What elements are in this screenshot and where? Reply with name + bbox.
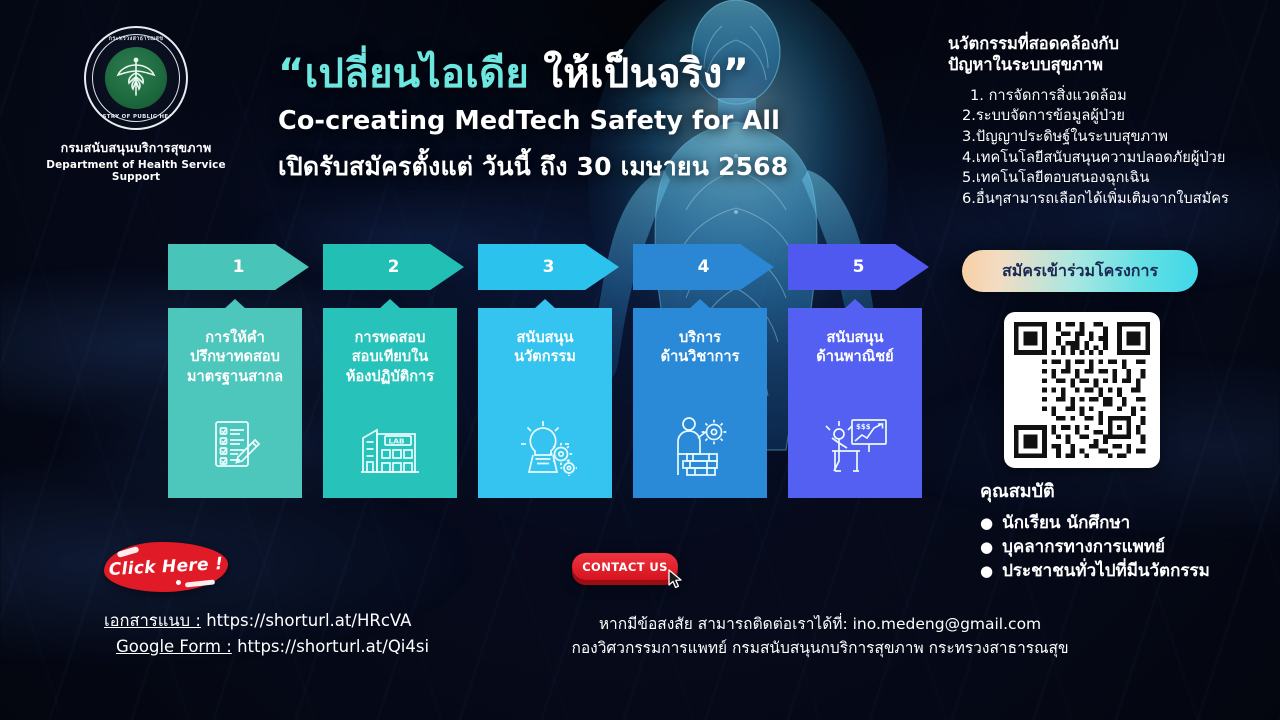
list-item: ●นักเรียน นักศึกษา [980,511,1280,535]
click-here-label: Click Here ! [103,539,229,595]
step-card-title: สนับสนุนนวัตกรรม [508,328,582,367]
qr-code[interactable] [1004,312,1160,468]
contact-us-button[interactable]: CONTACT US [572,553,678,580]
seal-bottom-text: MINISTRY OF PUBLIC HEALTH [86,114,186,120]
step-card-title: การทดสอบสอบเทียบในห้องปฏิบัติการ [340,328,440,386]
presentation-growth-icon: $$$ [822,418,888,476]
step-card-4[interactable]: บริการด้านวิชาการ [633,308,767,498]
click-here-sticker[interactable]: Click Here ! [104,542,228,592]
qualification-label: ประชาชนทั่วไปที่มีนวัตกรรม [1002,559,1210,583]
footer-contact-block: หากมีข้อสงสัย สามารถติดต่อเราได้ที่: ino… [470,612,1170,660]
innovation-topics-title-line2: ปัญหาในระบบสุขภาพ [948,55,1266,76]
step-card-5[interactable]: สนับสนุนด้านพาณิชย์ $$$ [788,308,922,498]
bullet-icon: ● [980,564,993,579]
headline-thai-part2: ให้เป็นจริง” [543,51,749,97]
lab-building-icon: LAB [359,418,421,476]
seal-caduceus-emblem [105,47,167,109]
department-name-english: Department of Health Service Support [46,159,226,183]
document-links-block: เอกสารแนบ : https://shorturl.at/HRcVA Go… [104,608,429,659]
list-item: ●บุคลากรทางการแพทย์ [980,535,1280,559]
list-item: 2.ระบบจัดการข้อมูลผู้ป่วย [948,106,1266,127]
step-number: 5 [853,257,865,277]
ministry-seal-icon: กระทรวงสาธารณสุข MINISTRY OF PUBLIC HEAL… [84,26,188,130]
qualification-label: บุคลากรทางการแพทย์ [1002,535,1165,559]
list-item: 3.ปัญญาประดิษฐ์ในระบบสุขภาพ [948,127,1266,148]
svg-text:$$$: $$$ [856,423,871,431]
step-number: 2 [388,257,400,277]
register-button[interactable]: สมัครเข้าร่วมโครงการ [962,250,1198,292]
list-item: 4.เทคโนโลยีสนับสนุนความปลอดภัยผู้ป่วย [948,148,1266,169]
innovation-topics-panel: นวัตกรรมที่สอดคล้องกับ ปัญหาในระบบสุขภาพ… [948,34,1266,210]
lightbulb-gear-icon [513,418,577,476]
list-item: ●ประชาชนทั่วไปที่มีนวัตกรรม [980,559,1280,583]
mouse-cursor-icon [668,569,684,589]
google-form-url[interactable]: https://shorturl.at/Qi4si [237,637,429,656]
list-item: 6.อื่นๆสามารถเลือกได้เพิ่มเติมจากใบสมัคร [948,189,1266,210]
footer-email-line: หากมีข้อสงสัย สามารถติดต่อเราได้ที่: ino… [470,612,1170,636]
step-card-title: สนับสนุนด้านพาณิชย์ [810,328,899,367]
qualifications-list: ●นักเรียน นักศึกษา ●บุคลากรทางการแพทย์ ●… [980,511,1280,583]
attachment-label: เอกสารแนบ : [104,611,201,630]
innovation-topics-title: นวัตกรรมที่สอดคล้องกับ ปัญหาในระบบสุขภาพ [948,34,1266,76]
bullet-icon: ● [980,540,993,555]
headline-block: “เปลี่ยนไอเดีย ให้เป็นจริง” Co-creating … [278,52,878,187]
person-books-gear-icon [669,416,731,476]
google-form-label: Google Form : [116,637,232,656]
step-number: 1 [233,257,245,277]
department-name-thai: กรมสนับสนุนบริการสุขภาพ [46,138,226,158]
list-item: 5.เทคโนโลยีตอบสนองฉุกเฉิน [948,168,1266,189]
list-item: 1. การจัดการสิ่งแวดล้อม [948,86,1266,107]
step-card-title: บริการด้านวิชาการ [655,328,746,367]
step-card-3[interactable]: สนับสนุนนวัตกรรม [478,308,612,498]
qr-code-graphic [1014,322,1150,458]
attachment-url[interactable]: https://shorturl.at/HRcVA [206,611,411,630]
qualification-label: นักเรียน นักศึกษา [1002,511,1130,535]
step-number: 3 [543,257,555,277]
step-number: 4 [698,257,710,277]
footer-organization-line: กองวิศวกรรมการแพทย์ กรมสนับสนุนกบริการสุ… [470,636,1170,660]
headline-thai-part1: “เปลี่ยนไอเดีย [278,51,543,97]
step-card-2[interactable]: การทดสอบสอบเทียบในห้องปฏิบัติการ LAB [323,308,457,498]
headline-thai: “เปลี่ยนไอเดีย ให้เป็นจริง” [278,52,878,97]
qualifications-title: คุณสมบัติ [980,476,1280,505]
headline-english: Co-creating MedTech Safety for All [278,106,878,136]
step-card-1[interactable]: การให้คำปรึกษาทดสอบมาตรฐานสากล [168,308,302,498]
innovation-topics-list: 1. การจัดการสิ่งแวดล้อม 2.ระบบจัดการข้อม… [948,86,1266,210]
svg-text:LAB: LAB [389,436,405,445]
google-form-link-row[interactable]: Google Form : https://shorturl.at/Qi4si [104,634,429,660]
application-period-text: เปิดรับสมัครตั้งแต่ วันนี้ ถึง 30 เมษายน… [278,147,878,187]
checklist-pencil-icon [208,418,262,476]
attachment-link-row[interactable]: เอกสารแนบ : https://shorturl.at/HRcVA [104,608,429,634]
seal-top-text: กระทรวงสาธารณสุข [86,35,186,43]
bullet-icon: ● [980,516,993,531]
caduceus-icon [115,55,157,101]
ministry-logo-block: กระทรวงสาธารณสุข MINISTRY OF PUBLIC HEAL… [46,26,226,183]
qualifications-block: คุณสมบัติ ●นักเรียน นักศึกษา ●บุคลากรทาง… [980,476,1280,583]
innovation-topics-title-line1: นวัตกรรมที่สอดคล้องกับ [948,34,1266,55]
step-card-title: การให้คำปรึกษาทดสอบมาตรฐานสากล [181,328,289,386]
